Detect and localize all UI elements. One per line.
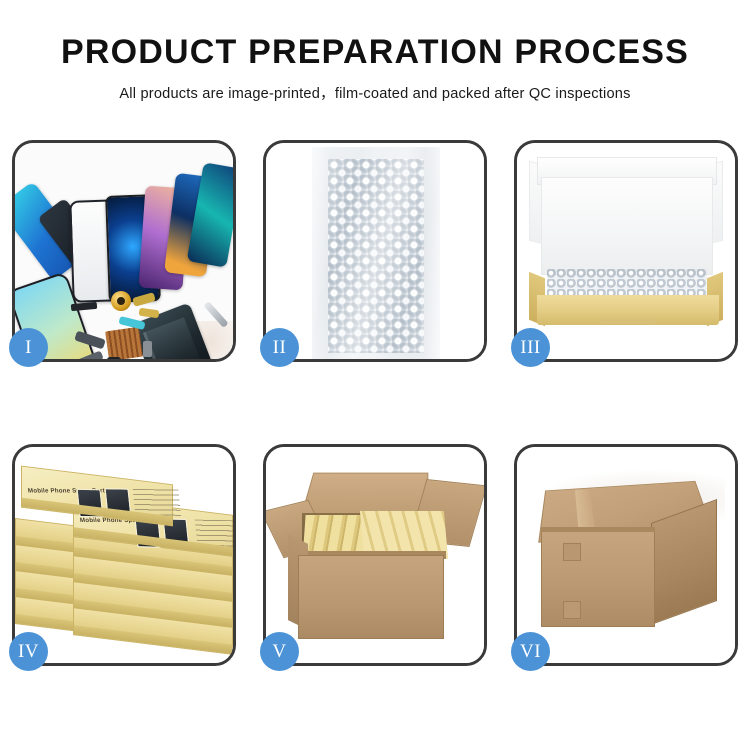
step-badge-6: VI <box>511 632 550 671</box>
step-2-image <box>266 143 484 359</box>
stacked-boxes-scene: Mobile Phone Spare Parts Mobile Phone Sp… <box>15 447 233 663</box>
step-4-image: Mobile Phone Spare Parts Mobile Phone Sp… <box>15 447 233 663</box>
step-5-image <box>266 447 484 663</box>
step-badge-1: I <box>9 328 48 367</box>
open-flat-box-scene <box>517 143 735 359</box>
camera-module-icon <box>107 357 121 359</box>
earpiece-part-icon <box>71 302 98 311</box>
flat-box-white-liner <box>541 177 713 275</box>
sealed-carton-tab-top <box>563 543 581 561</box>
flex-cable-b-icon <box>139 308 160 319</box>
process-step-5: V <box>263 444 487 666</box>
bubble-wrap-sheen <box>312 147 440 359</box>
process-step-4: Mobile Phone Spare Parts Mobile Phone Sp… <box>12 444 236 666</box>
step-badge-5: V <box>260 632 299 671</box>
page-subtitle: All products are image-printed，film-coat… <box>0 82 750 103</box>
open-carton-scene <box>266 447 484 663</box>
process-step-2: II <box>263 140 487 362</box>
sealed-carton-scene <box>517 447 735 663</box>
process-step-1: I <box>12 140 236 362</box>
step-badge-4: IV <box>9 632 48 671</box>
sealed-carton-tab-bottom <box>563 601 581 619</box>
process-steps-grid: I II <box>12 140 738 666</box>
speaker-coil-part-icon <box>111 291 131 311</box>
step-1-image <box>15 143 233 359</box>
page-header: PRODUCT PREPARATION PROCESS All products… <box>0 0 750 103</box>
sealed-carton-seam <box>541 527 655 532</box>
step-6-image <box>517 447 735 663</box>
battery-connector-icon <box>143 341 152 357</box>
process-step-6: VI <box>514 444 738 666</box>
step-3-image <box>517 143 735 359</box>
process-step-3: III <box>514 140 738 362</box>
step-badge-3: III <box>511 328 550 367</box>
sealed-carton-front-panel <box>541 529 655 627</box>
phone-parts-scene <box>15 143 233 359</box>
flat-box-notch <box>599 319 655 324</box>
copper-grid-part-icon <box>105 327 143 359</box>
carton-front-panel <box>298 555 444 639</box>
page-title: PRODUCT PREPARATION PROCESS <box>0 34 750 71</box>
bubble-wrap-scene <box>266 143 484 359</box>
stacked-box-printed-top: Mobile Phone Spare Parts <box>21 466 173 527</box>
step-badge-2: II <box>260 328 299 367</box>
